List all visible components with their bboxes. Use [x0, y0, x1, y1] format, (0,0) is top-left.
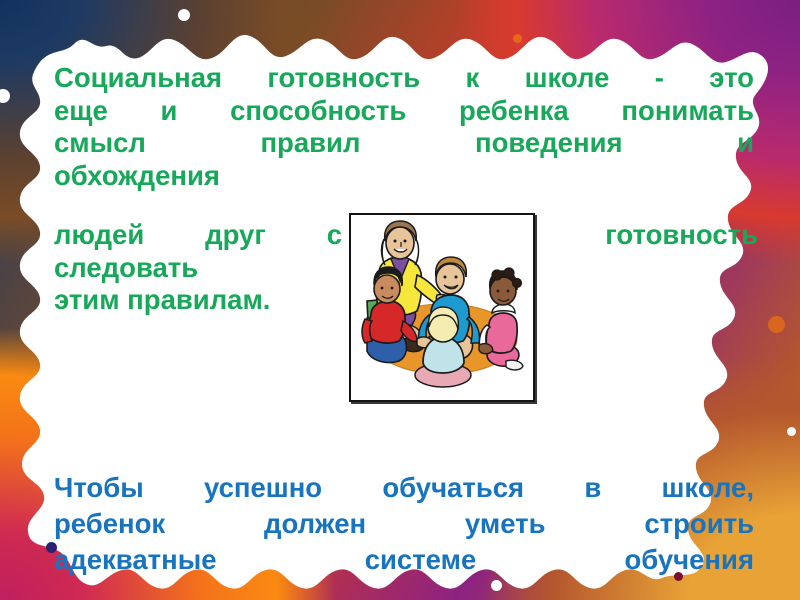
wrapped-text-right: готовность	[556, 219, 758, 252]
word: готовность	[267, 62, 420, 95]
bottom-paragraph: Чтобы успешно обучаться в школе, ребенок…	[54, 470, 754, 578]
word: друг	[205, 219, 266, 252]
white-dot-bottom-right	[787, 427, 796, 436]
classroom-circle-time-clipart	[349, 213, 535, 402]
word: системе	[365, 542, 477, 578]
orange-dot-top-center	[513, 34, 522, 43]
word: это	[709, 62, 754, 95]
word: успешно	[204, 470, 322, 506]
top-line-3: смысл правил поведения и	[54, 127, 754, 160]
word: и	[161, 95, 178, 128]
word: людей	[54, 219, 144, 252]
word: должен	[264, 506, 366, 542]
wrap-line-3: этим правилам.	[54, 284, 342, 317]
word: уметь	[465, 506, 546, 542]
word: с	[327, 219, 342, 252]
word: понимать	[621, 95, 754, 128]
top-paragraph: Социальная готовность к школе - это еще …	[54, 62, 754, 192]
word: Чтобы	[54, 470, 144, 506]
word: школе	[525, 62, 610, 95]
word: ребенка	[459, 95, 569, 128]
bottom-line-2: ребенок должен уметь строить	[54, 506, 754, 542]
white-dot-bottom-center	[491, 580, 502, 591]
bottom-line-3: адекватные системе обучения	[54, 542, 754, 578]
word: поведения	[475, 127, 623, 160]
word: -	[655, 62, 664, 95]
wrap-line-2: следовать	[54, 252, 342, 285]
wrapped-text-left: людей друг с следовать этим правилам.	[54, 219, 342, 317]
word: обучаться	[382, 470, 524, 506]
orange-dot-right	[768, 316, 785, 333]
word: способность	[230, 95, 406, 128]
word: школе,	[662, 470, 754, 506]
slide-canvas: Социальная готовность к школе - это еще …	[0, 0, 800, 600]
word: адекватные	[54, 542, 217, 578]
word: и	[737, 127, 754, 160]
bottom-line-1: Чтобы успешно обучаться в школе,	[54, 470, 754, 506]
wrap-line-1: людей друг с	[54, 219, 342, 252]
top-line-2: еще и способность ребенка понимать	[54, 95, 754, 128]
word: правил	[260, 127, 360, 160]
word: в	[584, 470, 601, 506]
word: обучения	[624, 542, 754, 578]
top-line-4: обхождения	[54, 160, 754, 193]
word: смысл	[54, 127, 146, 160]
word: к	[465, 62, 479, 95]
word: Социальная	[54, 62, 222, 95]
word: строить	[644, 506, 754, 542]
top-line-1: Социальная готовность к школе - это	[54, 62, 754, 95]
word: еще	[54, 95, 108, 128]
word: ребенок	[54, 506, 165, 542]
wrap-right-line-1: готовность	[556, 219, 758, 252]
white-dot-top	[178, 9, 190, 21]
